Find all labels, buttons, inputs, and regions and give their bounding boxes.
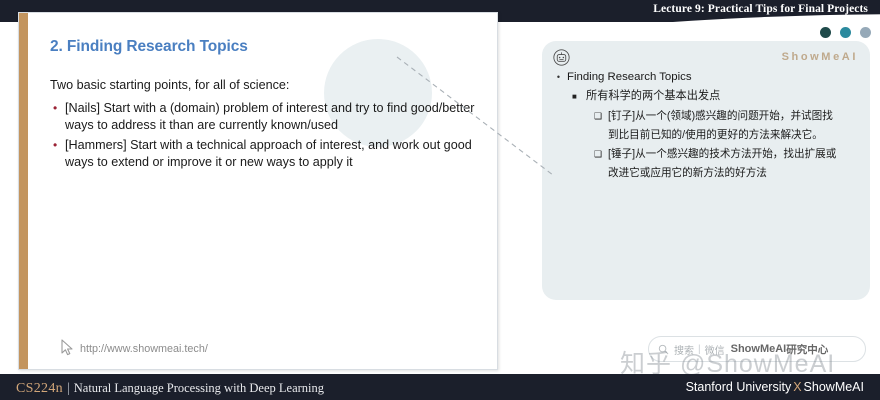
slide-card: 2. Finding Research Topics Two basic sta… [18,12,498,370]
cursor-pointer-icon [60,339,76,357]
note-level2-marker-icon: ■ [572,88,586,105]
footer-course-info: CS224n|Natural Language Processing with … [16,379,324,397]
wechat-promo-box: 搜索 | 微信 ShowMeAI 研究中心 [648,336,866,362]
wechat-search-label: 搜索 [674,342,694,357]
header-dot-group [820,27,871,38]
note-level3-line: 到比目前已知的/使用的更好的方法来解决它。 [608,129,823,141]
wechat-channel-label: 微信 [705,342,725,357]
note-level1-marker-icon: • [550,69,567,86]
note-outline-list: • Finding Research Topics ■ 所有科学的两个基本出发点… [550,69,862,183]
bullet-marker-icon: • [50,137,65,172]
footer-x-mark: X [793,380,801,394]
panel-showmeai-logo: ShowMeAI [782,51,858,63]
note-level3-text-block: [锤子]从一个感兴趣的技术方法开始，找出扩展或 改进它或应用它的新方法的好方法 [608,145,862,182]
search-icon [658,344,669,355]
slide-bullet-text: [Nails] Start with a (domain) problem of… [65,100,480,135]
translation-note-panel: ShowMeAI • Finding Research Topics ■ 所有科… [542,41,870,300]
wechat-brand-name: ShowMeAI [731,343,787,355]
bullet-marker-icon: • [50,100,65,135]
note-level3-line: [钉子]从一个(领域)感兴趣的问题开始，并试图找 [608,110,833,122]
slide-bullet-text: [Hammers] Start with a technical approac… [65,137,480,172]
wechat-brand-suffix: 研究中心 [786,342,828,357]
note-level3-item: ❑ [锤子]从一个感兴趣的技术方法开始，找出扩展或 改进它或应用它的新方法的好方… [594,145,862,182]
note-level3-marker-icon: ❑ [594,107,608,144]
note-level3-line: 改进它或应用它的新方法的好方法 [608,167,767,179]
note-level1-text: Finding Research Topics [567,69,692,86]
wechat-separator: | [698,344,701,355]
note-level3-text-block: [钉子]从一个(领域)感兴趣的问题开始，并试图找 到比目前已知的/使用的更好的方… [608,107,862,144]
slide-body: Two basic starting points, for all of sc… [50,77,480,174]
slide-title: 2. Finding Research Topics [50,38,248,56]
footer-attribution: Stanford UniversityXShowMeAI [686,380,864,394]
header-dot-1 [820,27,831,38]
ai-robot-icon [553,49,570,66]
header-dot-2 [840,27,851,38]
footer-course-name: Natural Language Processing with Deep Le… [74,381,324,395]
screenshot-root: Lecture 9: Practical Tips for Final Proj… [0,0,880,400]
lecture-title: Lecture 9: Practical Tips for Final Proj… [653,3,868,15]
footer-separator: | [67,381,70,396]
bottom-footer-band: CS224n|Natural Language Processing with … [0,374,880,400]
slide-bullet-item: • [Hammers] Start with a technical appro… [50,137,480,172]
footer-partner: ShowMeAI [804,380,864,394]
footer-course-code: CS224n [16,381,63,396]
slide-lead-text: Two basic starting points, for all of sc… [50,77,480,95]
note-level1-item: • Finding Research Topics [550,69,862,86]
note-level2-item: ■ 所有科学的两个基本出发点 [572,88,862,105]
note-level3-item: ❑ [钉子]从一个(领域)感兴趣的问题开始，并试图找 到比目前已知的/使用的更好… [594,107,862,144]
note-level3-marker-icon: ❑ [594,145,608,182]
note-level3-line: [锤子]从一个感兴趣的技术方法开始，找出扩展或 [608,148,836,160]
note-level2-text: 所有科学的两个基本出发点 [586,88,720,105]
slide-url-text: http://www.showmeai.tech/ [80,343,208,355]
slide-accent-bar [19,13,28,369]
header-dot-3 [860,27,871,38]
slide-bullet-item: • [Nails] Start with a (domain) problem … [50,100,480,135]
footer-university: Stanford University [686,380,792,394]
